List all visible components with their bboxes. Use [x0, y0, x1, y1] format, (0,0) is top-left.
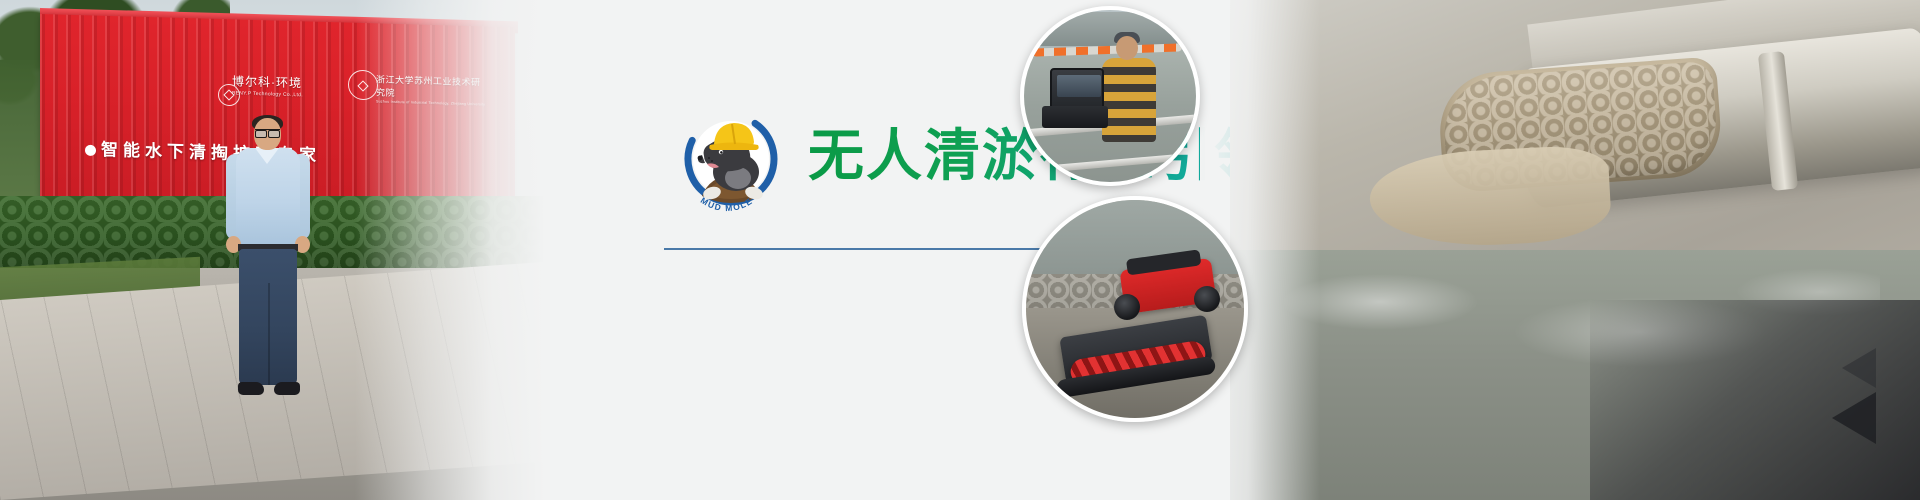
inset2-robot-wheel-right: [1194, 286, 1220, 312]
right-shoe: [274, 382, 300, 395]
left-shoe: [238, 382, 264, 395]
inset1-operator-torso: [1102, 58, 1156, 142]
hero-banner: 博尔科·环境 BENY.P Technology Co.,Ltd. 浙江大学苏州…: [0, 0, 1920, 500]
operator-control-console-photo: [1020, 6, 1200, 186]
trousers: [239, 249, 297, 385]
blue-shirt: [236, 148, 300, 246]
brand-primary-text: 博尔科·环境: [232, 74, 302, 90]
inset1-equipment-case: [1042, 106, 1108, 128]
bullet-icon: [85, 145, 96, 156]
mud-mole-logo: MUD MOLE: [676, 104, 786, 214]
glasses-icon: [255, 129, 280, 135]
person-standing: [222, 118, 314, 408]
mud-mole-logo-svg: MUD MOLE: [676, 104, 786, 214]
sludge-discharge-pipe-photo: [1200, 0, 1920, 500]
dredging-robot-photo: [1022, 196, 1248, 422]
container-brand-primary: 博尔科·环境 BENY.P Technology Co.,Ltd.: [232, 72, 352, 99]
container-site-photo: 博尔科·环境 BENY.P Technology Co.,Ltd. 浙江大学苏州…: [0, 0, 545, 500]
arrow-icon: [1832, 392, 1876, 444]
inset2-robot-wheel-left: [1114, 294, 1140, 320]
arrow-icon-secondary: [1842, 348, 1876, 388]
inset1-operator-head: [1116, 36, 1138, 60]
left-photo-fade: [355, 0, 545, 500]
